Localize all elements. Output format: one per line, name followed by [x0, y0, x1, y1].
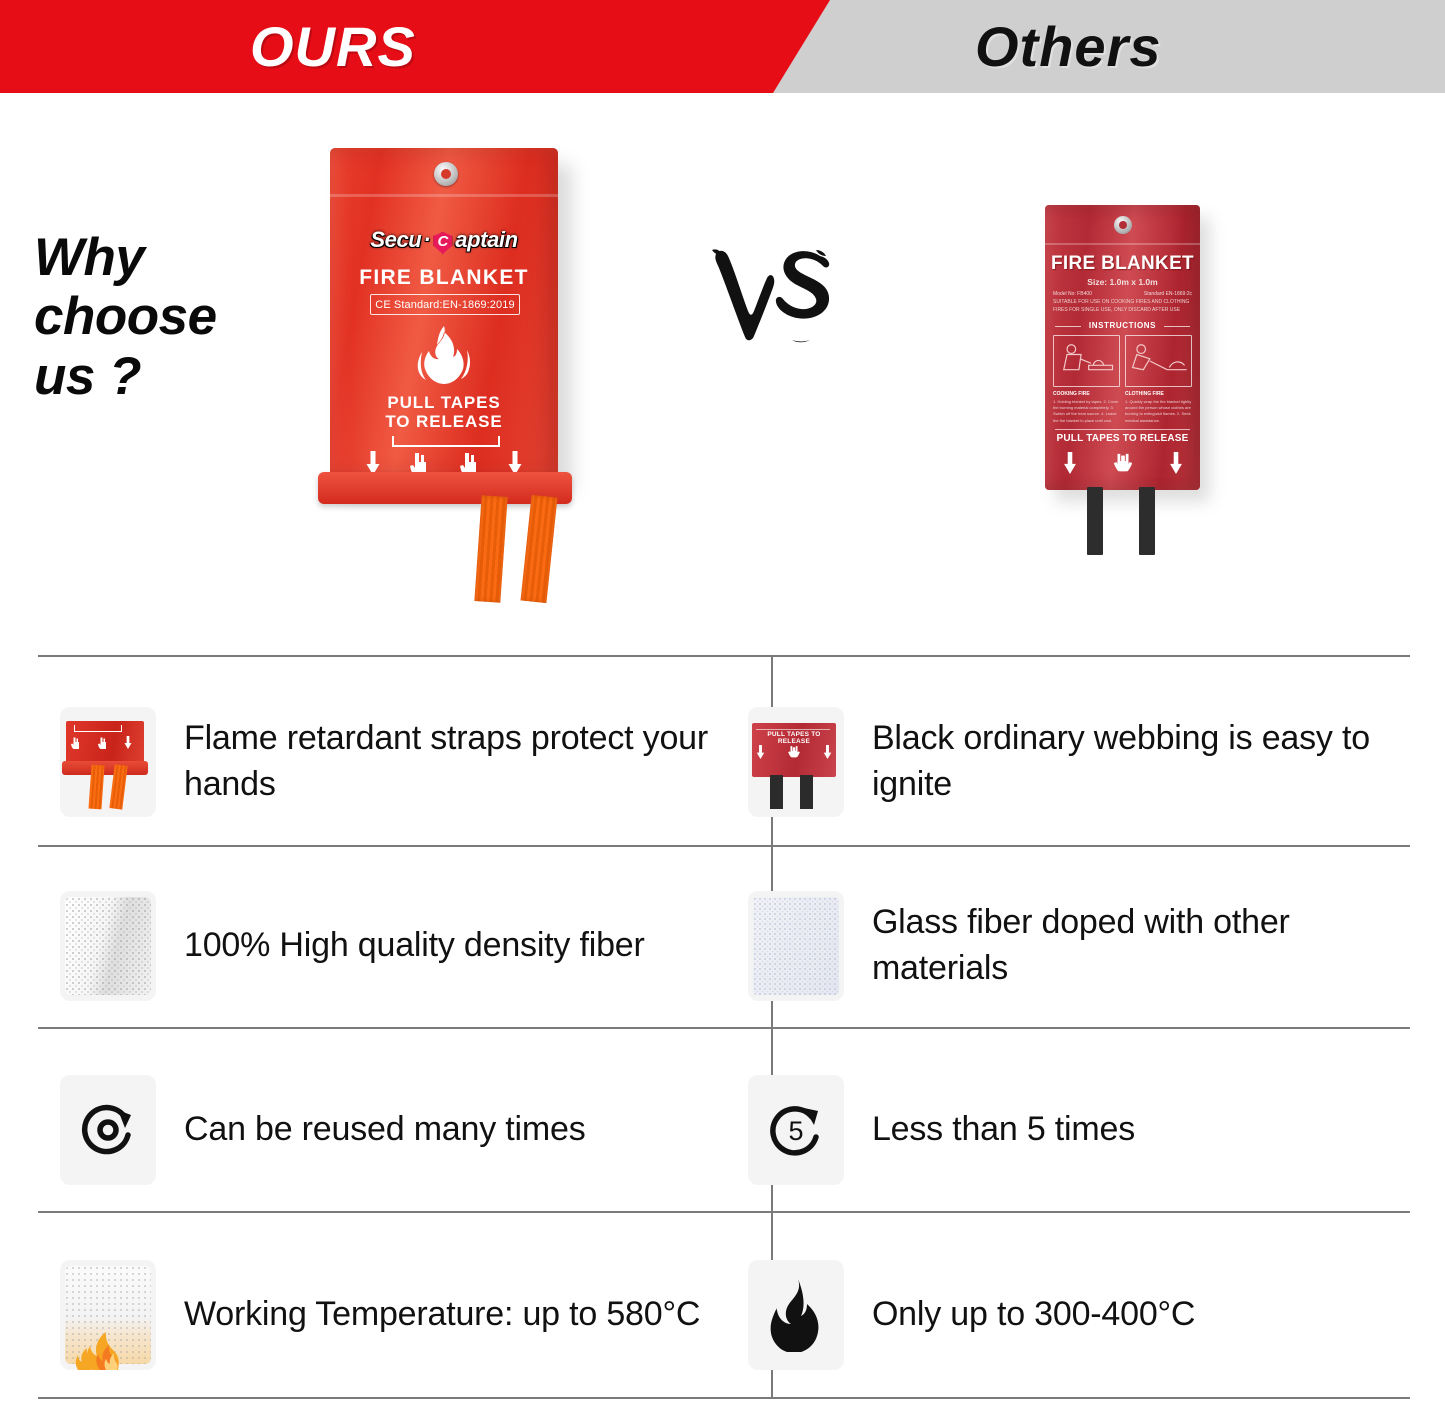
clothing-fire-illustration — [1125, 335, 1192, 387]
other-pack-model: Model No: FB400 — [1053, 291, 1092, 297]
others-cell: Glass fiber doped with other materials — [724, 865, 1410, 1027]
other-pack-description: SUITABLE FOR USE ON COOKING FIRES AND CL… — [1053, 299, 1192, 314]
arrow-down-icon — [124, 736, 132, 749]
other-pack-pull-instruction: PULL TAPES TO RELEASE — [1045, 433, 1200, 444]
our-pack-title: FIRE BLANKET — [330, 266, 558, 290]
ours-cell: Can be reused many times — [38, 1049, 724, 1211]
orange-strap — [521, 495, 558, 603]
ours-feature-text: Can be reused many times — [184, 1107, 586, 1153]
brand-dot: · — [423, 227, 430, 253]
table-rule — [38, 1027, 1410, 1029]
hanging-grommet-icon — [1114, 216, 1132, 234]
others-feature-text: Black ordinary webbing is easy to ignite — [872, 716, 1410, 807]
others-feature-text: Less than 5 times — [872, 1107, 1135, 1153]
others-cell: 5 Less than 5 times — [724, 1049, 1410, 1211]
ours-feature-text: Flame retardant straps protect your hand… — [184, 716, 724, 807]
flame-glyph-icon — [767, 1278, 825, 1352]
glass-fiber-texture-icon — [748, 891, 844, 1001]
arrow-down-icon — [1169, 452, 1183, 474]
our-pack-pull-instruction: PULL TAPES TO RELEASE — [330, 393, 558, 431]
clothing-fire-steps: 1. Quickly wrap the fire blanket tightly… — [1125, 399, 1192, 424]
pull-line-1: PULL TAPES — [330, 393, 558, 412]
other-pack-top-seam — [1045, 243, 1200, 245]
orange-strap — [474, 495, 507, 603]
cooking-fire-column: COOKING FIRE 1. Holding blanket by tapes… — [1053, 391, 1120, 424]
ours-feature-text: Working Temperature: up to 580°C — [184, 1292, 700, 1338]
pack-top-seam — [330, 194, 558, 197]
fiber-with-flame-icon — [60, 1260, 156, 1370]
ours-cell: Working Temperature: up to 580°C — [38, 1233, 724, 1397]
hand-pull-icon — [70, 736, 81, 749]
cooking-fire-heading: COOKING FIRE — [1053, 391, 1120, 397]
clothing-fire-drawing-icon — [1126, 336, 1191, 386]
others-cell: PULL TAPES TO RELEASE Black ordinary web… — [724, 679, 1410, 845]
header-banner: OURS Others — [0, 0, 1445, 93]
flame-icon — [66, 1322, 146, 1370]
hanging-grommet-icon — [434, 162, 458, 186]
cooking-fire-drawing-icon — [1054, 336, 1119, 386]
table-row: Can be reused many times 5 Less than 5 t… — [38, 1049, 1410, 1211]
pull-bracket — [392, 436, 500, 447]
reuse-loop-icon — [60, 1075, 156, 1185]
others-feature-text: Glass fiber doped with other materials — [872, 900, 1410, 991]
flame-icon — [408, 324, 480, 386]
others-cell: Only up to 300-400°C — [724, 1233, 1410, 1397]
ours-column-title: OURS — [250, 0, 416, 93]
arrow-down-icon — [1063, 452, 1077, 474]
other-pack-meta: Model No: FB400 Standard EN-1869:2c — [1053, 291, 1192, 297]
our-product-image: Secu · C aptain FIRE BLANKET CE Standard… — [330, 148, 562, 488]
other-pack-divider — [1055, 429, 1190, 430]
table-rule — [38, 1211, 1410, 1213]
table-row: Flame retardant straps protect your hand… — [38, 679, 1410, 845]
table-row: 100% High quality density fiber Glass fi… — [38, 865, 1410, 1027]
table-rule — [38, 845, 1410, 847]
shield-letter: C — [433, 233, 452, 250]
clothing-fire-column: CLOTHING FIRE 1. Quickly wrap the fire b… — [1125, 391, 1192, 424]
other-pack-instruction-text: COOKING FIRE 1. Holding blanket by tapes… — [1053, 391, 1192, 424]
hero-products: Secu · C aptain FIRE BLANKET CE Standard… — [0, 100, 1445, 645]
other-pack-size: Size: 1.0m x 1.0m — [1045, 277, 1200, 287]
reuse-count-label: 5 — [788, 1116, 803, 1146]
flame-icon — [748, 1260, 844, 1370]
brand-name-prefix: Secu — [370, 227, 421, 253]
ours-feature-text: 100% High quality density fiber — [184, 923, 645, 969]
other-pack-instructions-label: INSTRUCTIONS — [1053, 321, 1192, 330]
pull-line-2: TO RELEASE — [330, 412, 558, 431]
table-rule — [38, 655, 1410, 657]
shield-icon: C — [433, 232, 452, 254]
ours-cell: Flame retardant straps protect your hand… — [38, 679, 724, 845]
hands-pull-icon — [784, 745, 804, 759]
other-product-image: FIRE BLANKET Size: 1.0m x 1.0m Model No:… — [1045, 205, 1205, 505]
hands-pull-icon — [1108, 452, 1138, 474]
brand-name-suffix: aptain — [455, 227, 517, 253]
table-row: Working Temperature: up to 580°C Only up… — [38, 1233, 1410, 1397]
white-fiber-texture-icon — [60, 891, 156, 1001]
black-strap — [1087, 487, 1103, 555]
table-rule — [38, 1397, 1410, 1399]
reuse-limited-icon: 5 — [763, 1097, 829, 1163]
cooking-fire-illustration — [1053, 335, 1120, 387]
clothing-fire-heading: CLOTHING FIRE — [1125, 391, 1192, 397]
brand-logo: Secu · C aptain — [342, 224, 546, 256]
versus-icon — [700, 238, 850, 358]
cooking-fire-steps: 1. Holding blanket by tapes. 2. Cover th… — [1053, 399, 1120, 424]
red-pack-black-straps-icon: PULL TAPES TO RELEASE — [748, 707, 844, 817]
arrow-down-icon — [756, 745, 765, 759]
arrow-down-icon — [823, 745, 832, 759]
our-pack-certification: CE Standard:EN-1869:2019 — [370, 294, 520, 315]
other-pack-instruction-panels — [1053, 335, 1192, 387]
hand-pull-icon — [97, 736, 108, 749]
ours-cell: 100% High quality density fiber — [38, 865, 724, 1027]
other-pack-arrow-row — [1063, 449, 1183, 477]
red-pack-orange-straps-icon — [60, 707, 156, 817]
reuse-5-times-icon: 5 — [748, 1075, 844, 1185]
comparison-table: Flame retardant straps protect your hand… — [38, 655, 1410, 1399]
reuse-infinite-icon — [75, 1097, 141, 1163]
others-column-title: Others — [975, 0, 1162, 93]
black-strap — [1139, 487, 1155, 555]
others-feature-text: Only up to 300-400°C — [872, 1292, 1195, 1338]
other-pack-standard: Standard EN-1869:2c — [1144, 291, 1192, 297]
other-pack-title: FIRE BLANKET — [1045, 253, 1200, 275]
